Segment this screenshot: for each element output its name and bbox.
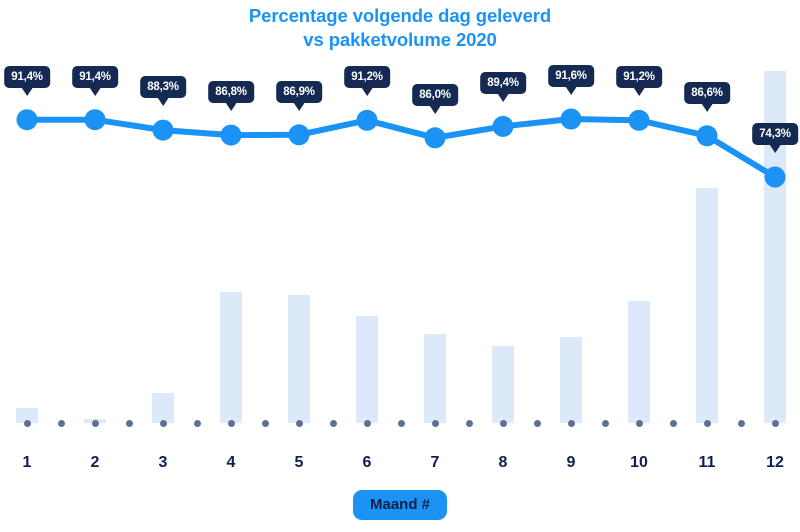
data-label-month-10: 91,2% bbox=[616, 66, 662, 88]
x-tick-11: 11 bbox=[699, 454, 716, 472]
plot-area: 91,4%91,4%88,3%86,8%86,9%91,2%86,0%89,4%… bbox=[0, 0, 800, 440]
data-label-month-7: 86,0% bbox=[412, 84, 458, 106]
x-tick-12: 12 bbox=[766, 454, 784, 472]
data-label-month-9: 91,6% bbox=[548, 65, 594, 87]
x-tick-6: 6 bbox=[363, 454, 372, 472]
chart-container: Percentage volgende dag geleverd vs pakk… bbox=[0, 0, 800, 532]
x-tick-8: 8 bbox=[499, 454, 508, 472]
x-tick-2: 2 bbox=[91, 454, 100, 472]
data-label-month-1: 91,4% bbox=[4, 66, 50, 88]
x-axis-title-pill: Maand # bbox=[353, 490, 447, 520]
x-tick-7: 7 bbox=[431, 454, 440, 472]
data-label-month-2: 91,4% bbox=[72, 66, 118, 88]
data-label-month-5: 86,9% bbox=[276, 81, 322, 103]
x-tick-1: 1 bbox=[23, 454, 32, 472]
data-label-month-12: 74,3% bbox=[752, 123, 798, 145]
data-label-tooltips: 91,4%91,4%88,3%86,8%86,9%91,2%86,0%89,4%… bbox=[0, 0, 800, 440]
x-axis-title-wrapper: Maand # bbox=[0, 490, 800, 520]
x-tick-3: 3 bbox=[159, 454, 168, 472]
x-tick-10: 10 bbox=[630, 454, 648, 472]
data-label-month-4: 86,8% bbox=[208, 81, 254, 103]
x-tick-9: 9 bbox=[567, 454, 576, 472]
x-axis-tick-labels: 123456789101112 bbox=[0, 440, 800, 490]
data-label-month-6: 91,2% bbox=[344, 66, 390, 88]
x-tick-5: 5 bbox=[295, 454, 304, 472]
data-label-month-8: 89,4% bbox=[480, 72, 526, 94]
data-label-month-3: 88,3% bbox=[140, 76, 186, 98]
x-tick-4: 4 bbox=[227, 454, 236, 472]
data-label-month-11: 86,6% bbox=[684, 82, 730, 104]
